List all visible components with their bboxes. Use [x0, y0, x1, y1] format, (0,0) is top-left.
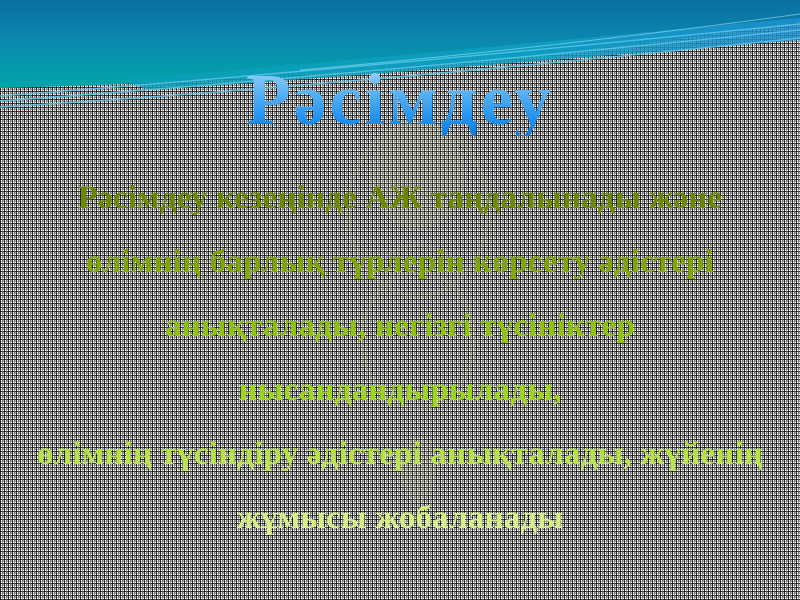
slide-title: Рәсімдеу	[0, 63, 800, 136]
body-line-2: өлімнің барлық түрлерін көрсету әдістері	[26, 230, 774, 294]
body-line-5: жұмысы жобаланады	[26, 486, 774, 550]
body-line-3: анықталады, негізгі түсініктер нысанданд…	[26, 294, 774, 422]
slide-canvas: Рәсімдеу Рәсімдеу кезеңінде АЖ таңдалына…	[0, 0, 800, 600]
slide-body: Рәсімдеу кезеңінде АЖ таңдалынады және ө…	[26, 166, 774, 550]
body-line-4: өлімнің түсіндіру әдістері анықталады, ж…	[26, 422, 774, 486]
body-line-1: Рәсімдеу кезеңінде АЖ таңдалынады және	[26, 166, 774, 230]
